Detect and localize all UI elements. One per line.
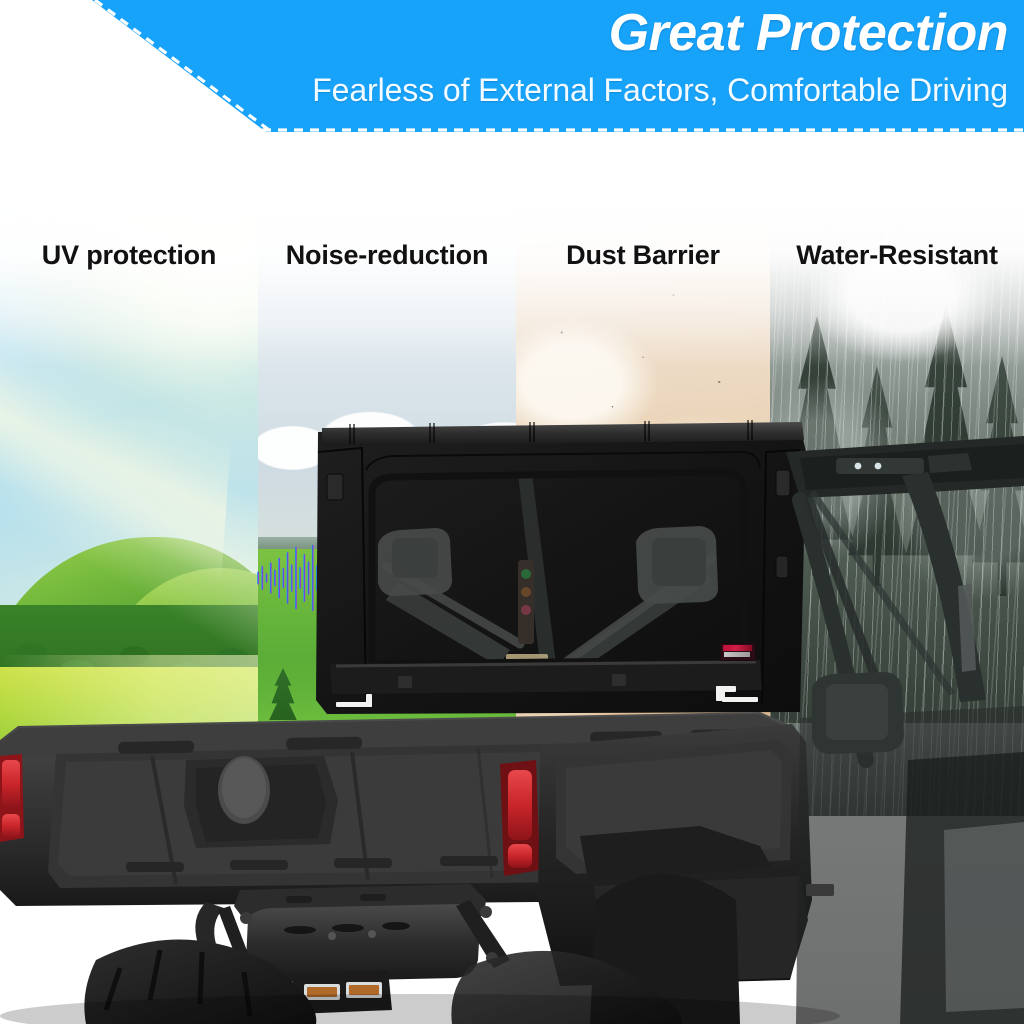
zipper-slider-top [716, 686, 736, 692]
feature-label-water-resistant: Water-Resistant [770, 240, 1024, 271]
banner-dashed-edge-diagonal [92, 0, 292, 139]
utv-product-hotspot[interactable] [0, 420, 1024, 1024]
feature-label-dust-barrier: Dust Barrier [516, 240, 770, 271]
zipper-pull-right [710, 686, 758, 706]
brand-badge [720, 643, 756, 661]
zipper-slider [366, 694, 372, 707]
feature-label-noise-reduction: Noise-reduction [258, 240, 516, 271]
zipper-pull-left [336, 694, 380, 710]
zipper-tape [722, 697, 758, 702]
feature-label-uv-protection: UV protection [0, 240, 258, 271]
banner-dashed-edge-bottom [262, 126, 1024, 134]
marketing-image: UV protection [0, 0, 1024, 1024]
banner-title: Great Protection [609, 7, 1008, 59]
brand-badge-bottom [724, 652, 750, 657]
brand-badge-top [723, 645, 752, 651]
header-banner: Great Protection Fearless of External Fa… [0, 0, 1024, 134]
banner-subtitle: Fearless of External Factors, Comfortabl… [312, 74, 1008, 106]
